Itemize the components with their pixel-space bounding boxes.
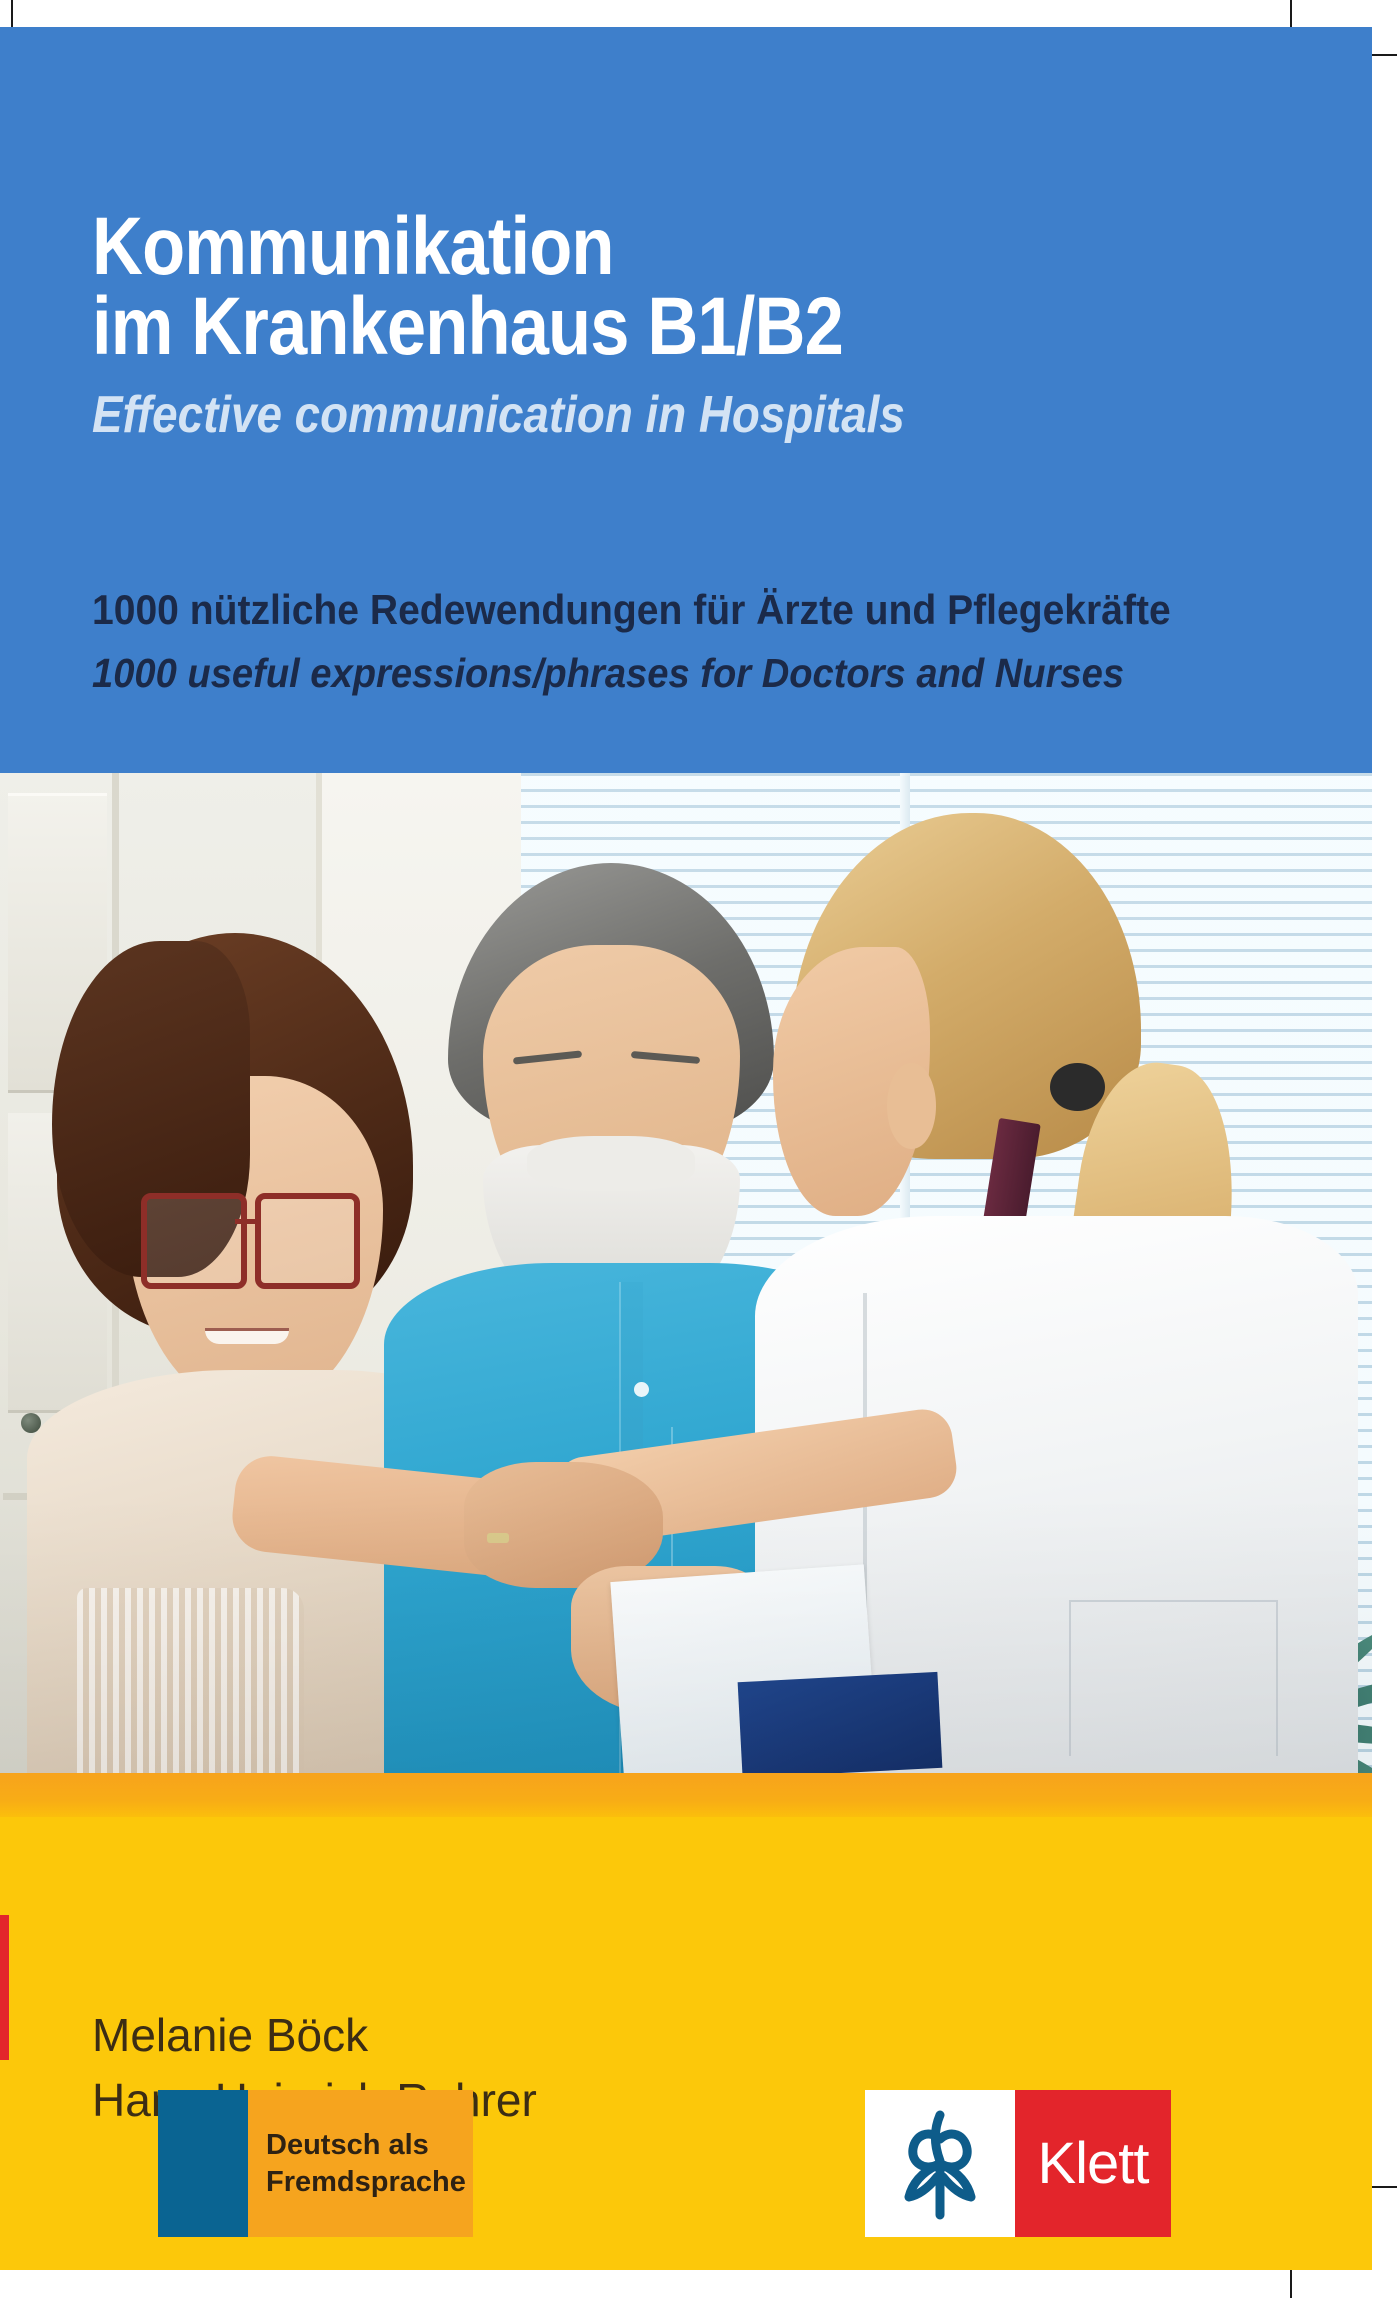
doctor-hair-tie xyxy=(1050,1063,1104,1111)
wedding-ring xyxy=(487,1533,509,1543)
series-badge-orange-block: Deutsch als Fremdsprache xyxy=(248,2090,473,2237)
blurb-german: 1000 nützliche Redewendungen für Ärzte u… xyxy=(92,585,1208,635)
book-cover: Kommunikation im Krankenhaus B1/B2 Effec… xyxy=(0,27,1372,2270)
man-shirt-button xyxy=(634,1382,649,1397)
title-block: Kommunikation im Krankenhaus B1/B2 Effec… xyxy=(92,207,1272,443)
klett-wordmark-text: Klett xyxy=(1037,2135,1148,2193)
subtitle-english: Effective communication in Hospitals xyxy=(92,388,1130,443)
klett-wordmark-panel: Klett xyxy=(1015,2090,1171,2237)
klett-fleur-de-lis-icon xyxy=(885,2105,995,2223)
blurb-block: 1000 nützliche Redewendungen für Ärzte u… xyxy=(92,585,1292,697)
page-title-line-1: Kommunikation xyxy=(92,207,1107,287)
woman-eyeglass-bridge xyxy=(235,1219,260,1224)
crop-mark-top-left xyxy=(11,0,13,30)
man-moustache xyxy=(527,1136,695,1191)
author-name-1: Melanie Böck xyxy=(92,2003,537,2068)
blue-folder xyxy=(738,1672,943,1773)
series-badge-line-1: Deutsch als xyxy=(266,2127,473,2164)
page-title-line-2: im Krankenhaus B1/B2 xyxy=(92,287,1107,367)
woman-smile xyxy=(205,1328,289,1344)
woman-eyeglass-right xyxy=(255,1193,361,1289)
series-badge-deutsch-als-fremdsprache: Deutsch als Fremdsprache xyxy=(158,2090,473,2237)
spine-red-edge xyxy=(0,1915,9,2060)
footer-orange-stripe xyxy=(0,1773,1372,1817)
handshake-group xyxy=(233,1403,1001,1773)
series-badge-blue-block xyxy=(158,2090,248,2237)
blurb-english: 1000 useful expressions/phrases for Doct… xyxy=(92,649,1208,697)
series-badge-line-2: Fremdsprache xyxy=(266,2164,473,2201)
publisher-logo-klett: Klett xyxy=(865,2090,1171,2237)
klett-logo-mark-panel xyxy=(865,2090,1015,2237)
doctor-ear xyxy=(887,1063,935,1149)
cover-photo xyxy=(0,773,1372,1773)
header-band: Kommunikation im Krankenhaus B1/B2 Effec… xyxy=(0,27,1372,773)
doctor-coat-pocket xyxy=(1069,1600,1278,1756)
woman-eyeglass-left xyxy=(141,1193,247,1289)
